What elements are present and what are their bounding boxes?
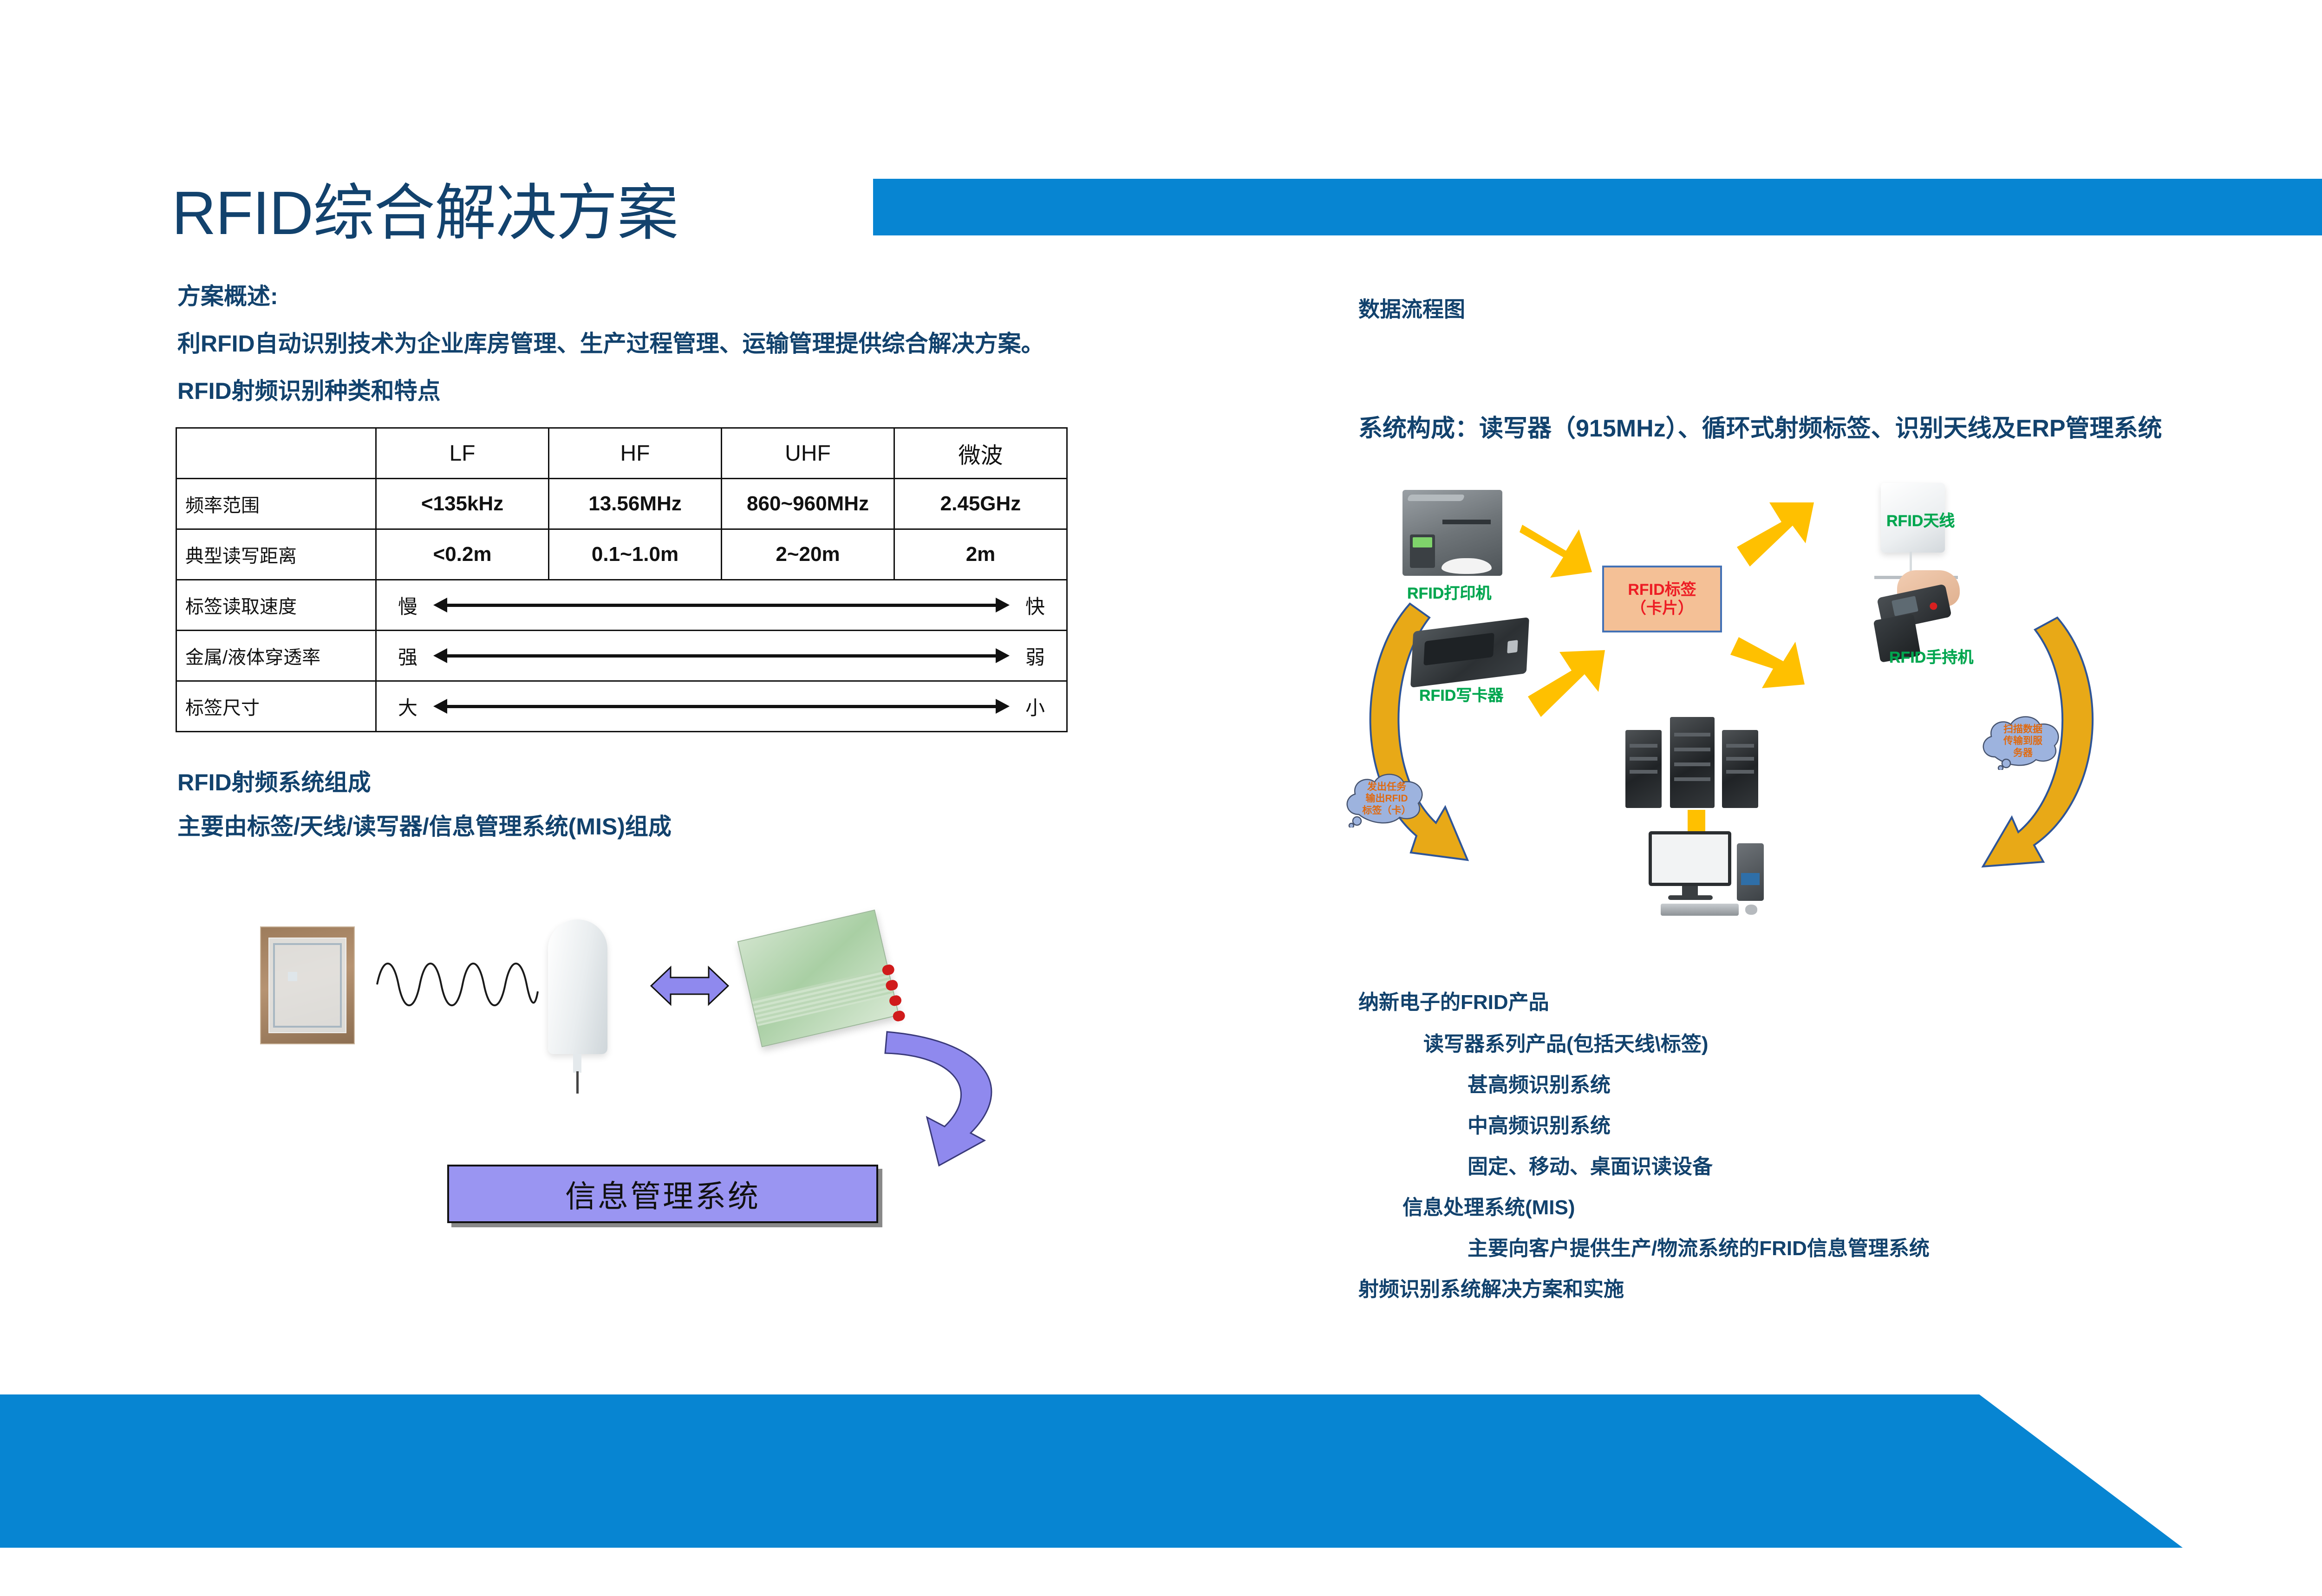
table-row: 标签尺寸 大 小 — [176, 681, 1067, 732]
cloud-callout-upload: 扫描数据 传输到服 务器 — [1977, 712, 2068, 770]
table-row: 标签读取速度 慢 快 — [176, 580, 1067, 631]
product-bullet-5: 信息处理系统(MIS) — [1402, 1191, 1575, 1220]
table-cell: 13.56MHz — [549, 479, 722, 529]
product-bullet-4: 固定、移动、桌面识读设备 — [1468, 1150, 1713, 1179]
row-label: 金属/液体穿透率 — [176, 631, 376, 681]
rfid-card-writer-label: RFID写卡器 — [1419, 683, 1503, 705]
table-cell: 2~20m — [722, 529, 894, 580]
arrow-left-label: 慢 — [398, 591, 417, 619]
desktop-computer-image — [1649, 831, 1769, 919]
overview-heading: 方案概述: — [177, 278, 278, 311]
gradient-arrow-cell: 大 小 — [376, 681, 1067, 732]
double-arrow-icon — [433, 703, 1010, 710]
arrow-right-label: 快 — [1025, 591, 1045, 619]
arrow-right-label: 小 — [1025, 692, 1045, 721]
gradient-arrow-cell: 强 弱 — [376, 631, 1067, 681]
row-label: 标签读取速度 — [176, 580, 376, 631]
table-header-cell: UHF — [722, 428, 894, 479]
table-cell: 2m — [894, 529, 1067, 580]
rfid-handheld-label: RFID手持机 — [1889, 645, 1973, 667]
system-composition-body: 主要由标签/天线/读写器/信息管理系统(MIS)组成 — [177, 808, 672, 841]
table-row: 频率范围 <135kHz 13.56MHz 860~960MHz 2.45GHz — [176, 479, 1067, 529]
radio-wave-icon — [376, 954, 539, 1015]
double-arrow-icon — [433, 602, 1010, 608]
rfid-antenna-photo — [548, 919, 607, 1054]
arrow-left-label: 强 — [398, 642, 417, 670]
dataflow-diagram: RFID打印机 RFID写卡器 RFID标签 （卡片） RFID天线 RFID手… — [1328, 464, 2146, 1012]
rfid-tag-card-box: RFID标签 （卡片） — [1602, 566, 1722, 632]
rfid-tag-card-label-line1: RFID标签 — [1628, 580, 1696, 599]
cloud-text-line: 传输到服 — [2003, 735, 2042, 747]
row-label: 典型读写距离 — [176, 529, 376, 580]
rfid-components-illustration — [241, 873, 1031, 1161]
header-accent-bar — [873, 179, 2322, 235]
product-bullet-0: 纳新电子的FRID产品 — [1358, 985, 1549, 1015]
cloud-text-line: 务器 — [2013, 747, 2033, 759]
system-composition-heading: RFID射频系统组成 — [177, 764, 371, 797]
product-bullet-3: 中高频识别系统 — [1468, 1109, 1611, 1139]
cloud-text-line: 输出RFID — [1366, 793, 1408, 805]
types-heading: RFID射频识别种类和特点 — [177, 372, 441, 406]
table-header-cell — [176, 428, 376, 479]
table-header-cell: HF — [549, 428, 722, 479]
table-header-row: LF HF UHF 微波 — [176, 428, 1067, 479]
server-stack-image — [1625, 715, 1760, 808]
row-label: 频率范围 — [176, 479, 376, 529]
rfid-spec-table: LF HF UHF 微波 频率范围 <135kHz 13.56MHz 860~9… — [176, 427, 1068, 732]
rfid-tag-photo — [260, 926, 355, 1044]
cloud-text-line: 发出任务 — [1367, 781, 1406, 793]
table-row: 金属/液体穿透率 强 弱 — [176, 631, 1067, 681]
table-cell: 860~960MHz — [722, 479, 894, 529]
product-bullet-6: 主要向客户提供生产/物流系统的FRID信息管理系统 — [1468, 1231, 1930, 1261]
gradient-arrow-cell: 慢 快 — [376, 580, 1067, 631]
table-cell: <0.2m — [376, 529, 549, 580]
page-title: RFID综合解决方案 — [172, 181, 678, 246]
row-label: 标签尺寸 — [176, 681, 376, 732]
dataflow-heading: 数据流程图 — [1358, 293, 1465, 323]
curved-flow-arrow-icon — [831, 1026, 1026, 1179]
table-header-cell: LF — [376, 428, 549, 479]
overview-body: 利RFID自动识别技术为企业库房管理、生产过程管理、运输管理提供综合解决方案。 — [177, 325, 1044, 358]
arrow-left-label: 大 — [398, 692, 417, 721]
cloud-callout-dispatch: 发出任务 输出RFID 标签（卡） — [1341, 770, 1432, 827]
rfid-tag-card-label-line2: （卡片） — [1631, 599, 1694, 618]
table-cell: 2.45GHz — [894, 479, 1067, 529]
table-header-cell: 微波 — [894, 428, 1067, 479]
mis-box-label: 信息管理系统 — [565, 1172, 760, 1216]
product-bullet-7: 射频识别系统解决方案和实施 — [1358, 1272, 1624, 1302]
bidirectional-arrow-icon — [650, 964, 729, 1008]
mis-box: 信息管理系统 — [447, 1165, 878, 1223]
table-row: 典型读写距离 <0.2m 0.1~1.0m 2~20m 2m — [176, 529, 1067, 580]
system-composition-line: 系统构成：读写器（915MHz）、循环式射频标签、识别天线及ERP管理系统 — [1358, 409, 2162, 443]
double-arrow-icon — [433, 652, 1010, 659]
arrow-right-label: 弱 — [1025, 642, 1045, 670]
table-cell: <135kHz — [376, 479, 549, 529]
footer-accent-shape — [0, 1394, 2322, 1548]
rfid-printer-image — [1402, 490, 1502, 576]
cloud-text-line: 标签（卡） — [1363, 805, 1411, 817]
product-bullet-2: 甚高频识别系统 — [1468, 1068, 1611, 1098]
table-cell: 0.1~1.0m — [549, 529, 722, 580]
rfid-antenna-label: RFID天线 — [1886, 508, 1955, 531]
rfid-printer-label: RFID打印机 — [1407, 580, 1491, 603]
product-bullet-1: 读写器系列产品(包括天线\标签) — [1423, 1027, 1709, 1057]
cloud-text-line: 扫描数据 — [2003, 723, 2042, 736]
